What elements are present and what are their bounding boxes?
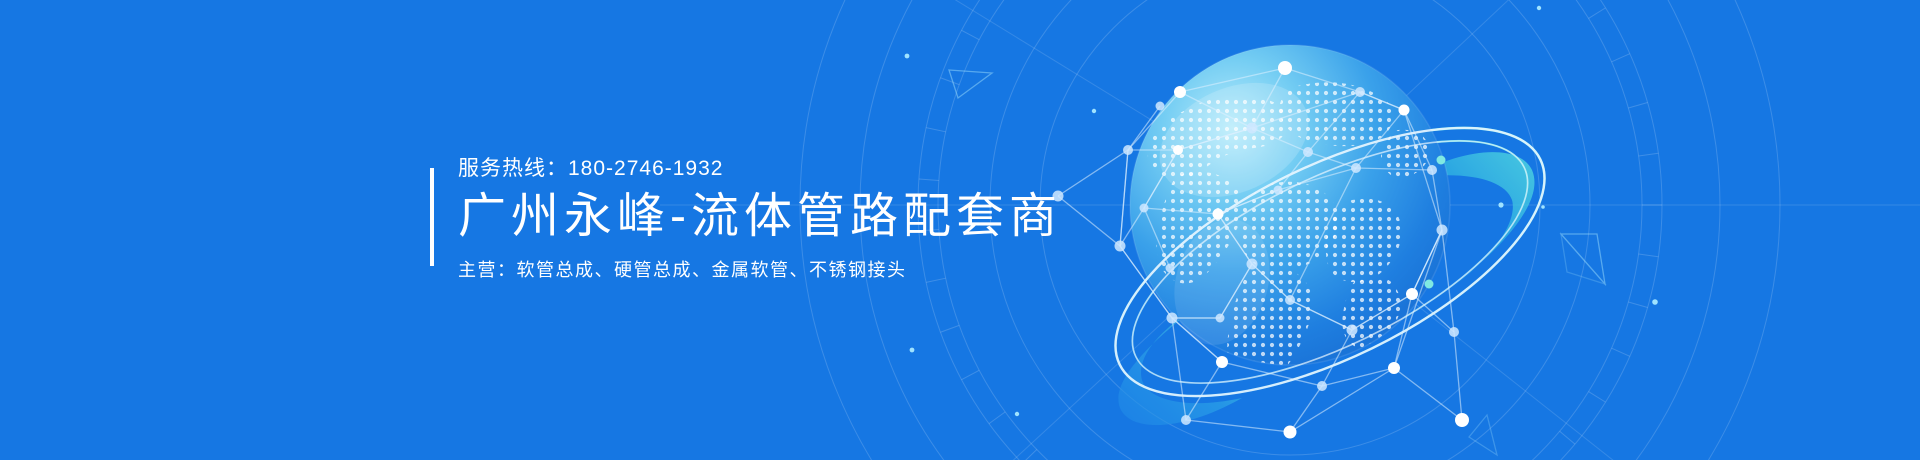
hotline-text: 服务热线：180-2746-1932: [458, 158, 1062, 179]
promo-banner: 服务热线：180-2746-1932 广州永峰-流体管路配套商 主营：软管总成、…: [0, 0, 1920, 460]
banner-text-block: 服务热线：180-2746-1932 广州永峰-流体管路配套商 主营：软管总成、…: [430, 158, 1062, 279]
page-title: 广州永峰-流体管路配套商: [458, 193, 1062, 241]
accent-bar: [430, 168, 434, 266]
subtitle-text: 主营：软管总成、硬管总成、金属软管、不锈钢接头: [458, 261, 1062, 279]
